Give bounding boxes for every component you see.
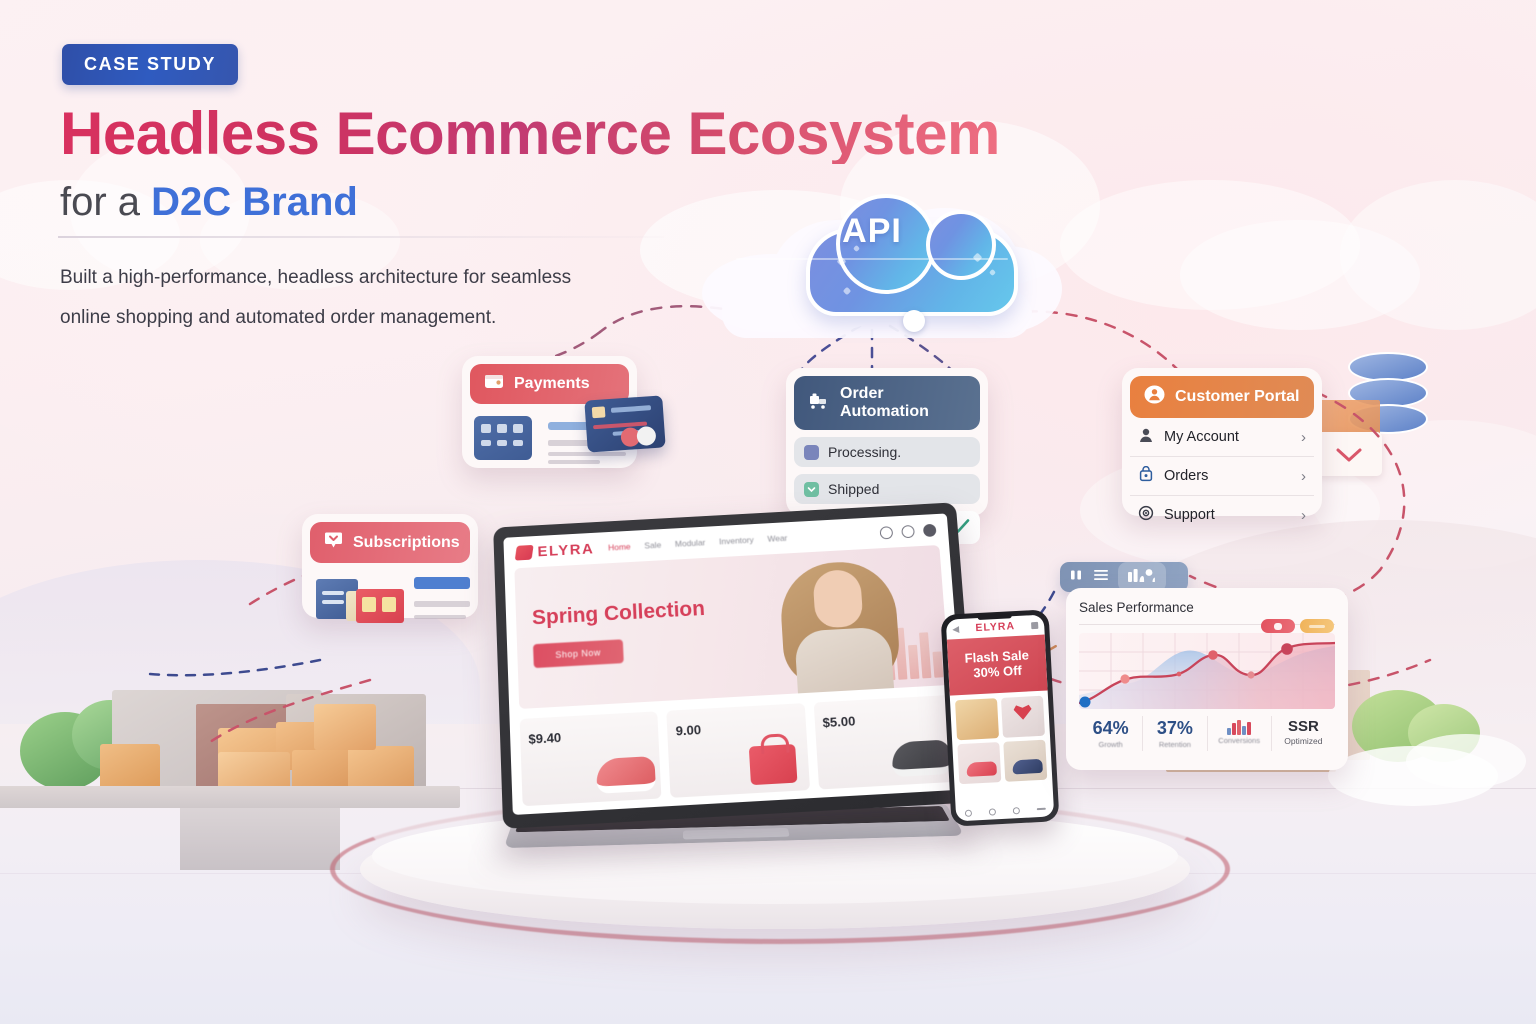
pause-bars-icon[interactable]	[1069, 568, 1083, 587]
order-status-row[interactable]: Processing.	[794, 437, 980, 467]
conveyor-box-icon	[808, 392, 830, 415]
order-status-label: Shipped	[828, 481, 879, 497]
sales-chart-svg	[1079, 633, 1335, 709]
chevron-badge-icon	[324, 531, 343, 554]
page-subtitle: for a D2C Brand	[60, 180, 358, 225]
product-card[interactable]: $9.40	[520, 711, 662, 806]
portal-item-label: Support	[1164, 507, 1215, 523]
page-title: Headless Ecommerce Ecosystem	[60, 104, 1000, 164]
credit-card-graphic	[584, 395, 665, 452]
product-shoe-image	[891, 739, 952, 777]
wallet-icon	[484, 373, 504, 395]
order-automation-card[interactable]: Order Automation Processing. Shipped Del…	[786, 368, 988, 516]
sales-performance-card[interactable]: Sales Performance	[1066, 588, 1348, 770]
list-icon[interactable]	[1093, 568, 1109, 587]
portal-item-label: Orders	[1164, 468, 1208, 484]
portal-item-support[interactable]: Support ›	[1130, 496, 1314, 534]
product-grid: $9.40 9.00 $5.00	[520, 695, 958, 806]
api-label: API	[702, 212, 1042, 251]
storefront-screen: ELYRA Home Sale Modular Inventory Wear	[503, 513, 968, 815]
hero-title-highlight: Spring	[532, 603, 599, 629]
chevron-right-icon: ›	[1301, 468, 1306, 485]
search-icon[interactable]	[988, 808, 995, 815]
stat-growth: 64% Growth	[1079, 716, 1143, 751]
dashboard-stats: 64% Growth 37% Retention Conversions SSR…	[1079, 716, 1335, 751]
stat-conversions: Conversions	[1208, 716, 1272, 751]
toolbar-segment-left	[1060, 568, 1118, 587]
laptop-mockup: ELYRA Home Sale Modular Inventory Wear	[498, 512, 968, 842]
cart-icon[interactable]	[923, 523, 937, 536]
nav-link-home[interactable]: Home	[608, 542, 631, 553]
product-price: $5.00	[822, 708, 945, 730]
subtitle-highlight: D2C Brand	[151, 180, 358, 224]
subscriptions-card-header: Subscriptions	[310, 522, 470, 563]
stat-value: SSR	[1272, 718, 1335, 735]
dashboard-pills	[1261, 619, 1334, 633]
stat-ssr: SSR Optimized	[1272, 716, 1335, 751]
phone-brand: ELYRA	[975, 620, 1015, 634]
api-underline	[736, 258, 1008, 260]
order-status-label: Processing.	[828, 444, 901, 460]
lifebuoy-icon	[1138, 505, 1154, 525]
user-circle-icon	[1144, 385, 1165, 409]
amber-pill[interactable]	[1300, 619, 1334, 633]
portal-item-label: My Account	[1164, 429, 1239, 445]
chevron-card-right	[1316, 432, 1382, 476]
order-automation-card-header: Order Automation	[794, 376, 980, 430]
customer-portal-card-header: Customer Portal	[1130, 376, 1314, 418]
dashboard-title: Sales Performance	[1079, 600, 1335, 615]
portal-item-orders[interactable]: Orders ›	[1130, 457, 1314, 496]
record-pill[interactable]	[1261, 619, 1295, 633]
phone-product-tile[interactable]	[955, 698, 999, 740]
payments-card-header: Payments	[470, 364, 629, 404]
phone-product-tile[interactable]	[1003, 740, 1047, 782]
customer-portal-card-title: Customer Portal	[1175, 388, 1299, 406]
phone-screen: ELYRA Flash Sale 30% Off	[946, 615, 1054, 822]
phone-mockup: ELYRA Flash Sale 30% Off	[941, 609, 1060, 826]
storefront-hero: Spring Collection Shop Now	[514, 545, 950, 709]
order-automation-card-title: Order Automation	[840, 385, 966, 421]
home-icon[interactable]	[964, 809, 971, 816]
subscriptions-card-title: Subscriptions	[353, 534, 460, 552]
heart-icon[interactable]	[901, 524, 915, 537]
phone-tab-bar	[956, 800, 1055, 821]
stat-label: Optimized	[1272, 736, 1335, 746]
portal-item-my-account[interactable]: My Account ›	[1130, 418, 1314, 457]
subscriptions-card[interactable]: Subscriptions	[302, 514, 478, 618]
api-cloud-node[interactable]: API	[702, 206, 1042, 331]
phone-product-grid	[950, 690, 1053, 789]
product-price: $9.40	[528, 725, 651, 747]
api-connector-node	[903, 310, 925, 332]
page-description: Built a high-performance, headless archi…	[60, 258, 580, 338]
user-icon	[1138, 427, 1154, 447]
product-bag-image	[748, 744, 797, 785]
payment-method-block	[474, 416, 532, 460]
nav-link-wear[interactable]: Wear	[767, 533, 787, 544]
product-card[interactable]: 9.00	[667, 703, 810, 798]
nav-link-modular[interactable]: Modular	[675, 537, 706, 548]
processing-swatch-icon	[804, 445, 819, 460]
phone-product-tile[interactable]	[957, 742, 1001, 784]
order-status-row[interactable]: Shipped	[794, 474, 980, 504]
product-card[interactable]: $5.00	[813, 695, 957, 790]
search-icon[interactable]	[880, 526, 894, 539]
hero-model-image	[772, 553, 908, 694]
brand-name: ELYRA	[537, 540, 594, 560]
storefront-logo[interactable]: ELYRA	[515, 540, 594, 561]
sales-chart	[1079, 633, 1335, 709]
hero-title-rest: Collection	[598, 597, 706, 626]
header-divider	[58, 236, 664, 238]
product-shoe-image	[596, 756, 656, 794]
subtitle-prefix: for a	[60, 180, 151, 224]
laptop-trackpad	[683, 828, 790, 840]
case-study-badge: CASE STUDY	[62, 44, 238, 85]
stat-value: 64%	[1079, 718, 1142, 739]
bag-lock-icon	[1138, 466, 1154, 486]
heart-icon[interactable]	[1012, 807, 1019, 814]
phone-product-tile[interactable]	[1001, 696, 1045, 738]
subscriptions-card-body	[310, 567, 470, 641]
phone-flash-sale-banner: Flash Sale 30% Off	[947, 635, 1048, 696]
nav-link-sale[interactable]: Sale	[644, 540, 661, 551]
shipped-swatch-icon	[804, 482, 819, 497]
stat-label: Conversions	[1208, 736, 1271, 745]
payments-card-title: Payments	[514, 375, 590, 393]
chevron-right-icon: ›	[1301, 507, 1306, 524]
hero-title: Spring Collection	[532, 597, 706, 630]
stat-label: Retention	[1143, 740, 1206, 749]
nav-link-inventory[interactable]: Inventory	[719, 535, 754, 547]
stat-value: 37%	[1143, 718, 1206, 739]
stat-retention: 37% Retention	[1143, 716, 1207, 751]
laptop-lid: ELYRA Home Sale Modular Inventory Wear	[493, 502, 979, 829]
bar-chart-icon[interactable]	[1127, 567, 1157, 588]
poster-canvas: CASE STUDY Headless Ecommerce Ecosystem …	[0, 0, 1536, 1024]
chevron-right-icon: ›	[1301, 429, 1306, 446]
customer-portal-card[interactable]: Customer Portal My Account › Orders › Su…	[1122, 368, 1322, 516]
mini-bar-chart-icon	[1208, 718, 1271, 735]
stat-label: Growth	[1079, 740, 1142, 749]
hero-cta-button[interactable]: Shop Now	[533, 639, 623, 668]
storefront-nav-icons	[880, 523, 937, 539]
flash-sale-line2: 30% Off	[973, 664, 1022, 681]
menu-icon[interactable]	[1036, 808, 1045, 810]
brand-mark-icon	[515, 544, 534, 560]
